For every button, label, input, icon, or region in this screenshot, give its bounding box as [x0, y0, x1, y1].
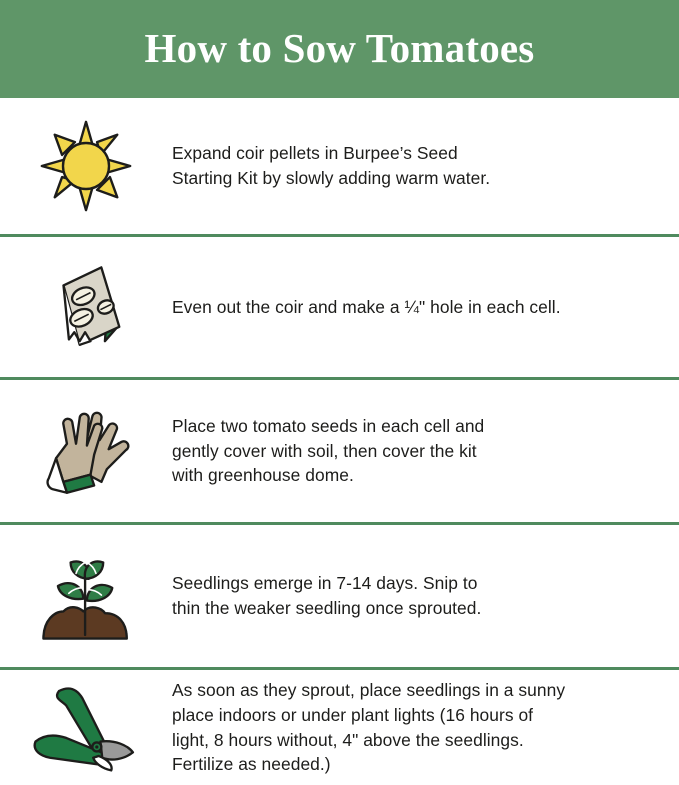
step-2-line-1: Even out the coir and make a ¼" hole in … [172, 295, 649, 320]
step-1-line-2: Starting Kit by slowly adding warm water… [172, 166, 649, 191]
step-3-line-3: with greenhouse dome. [172, 463, 649, 488]
step-4-line-2: thin the weaker seedling once sprouted. [172, 596, 649, 621]
header-banner: How to Sow Tomatoes [0, 0, 679, 98]
pruning-shears-icon [30, 682, 142, 774]
step-row-4: Seedlings emerge in 7-14 days. Snip to t… [0, 525, 679, 667]
seedling-icon [36, 548, 136, 644]
step-5-line-4: Fertilize as needed.) [172, 752, 649, 777]
step-5-text: As soon as they sprout, place seedlings … [172, 678, 679, 777]
garden-gloves-icon [36, 402, 136, 500]
seed-packet-icon [36, 262, 136, 352]
step-3-icon-cell [0, 402, 172, 500]
sun-icon [40, 120, 132, 212]
step-5-line-1: As soon as they sprout, place seedlings … [172, 678, 649, 703]
step-5-line-3: light, 8 hours without, 4" above the see… [172, 728, 649, 753]
page-title: How to Sow Tomatoes [145, 28, 535, 71]
step-row-3: Place two tomato seeds in each cell and … [0, 380, 679, 522]
step-2-icon-cell [0, 262, 172, 352]
step-row-5: As soon as they sprout, place seedlings … [0, 670, 679, 785]
step-1-icon-cell [0, 120, 172, 212]
step-4-icon-cell [0, 548, 172, 644]
step-4-text: Seedlings emerge in 7-14 days. Snip to t… [172, 571, 679, 620]
step-2-text: Even out the coir and make a ¼" hole in … [172, 295, 679, 320]
step-1-line-1: Expand coir pellets in Burpee’s Seed [172, 141, 649, 166]
step-row-1: Expand coir pellets in Burpee’s Seed Sta… [0, 98, 679, 234]
how-to-sow-tomatoes-infographic: How to Sow Tomatoes [0, 0, 679, 773]
steps-list: Expand coir pellets in Burpee’s Seed Sta… [0, 98, 679, 785]
step-5-icon-cell [0, 682, 172, 774]
step-3-text: Place two tomato seeds in each cell and … [172, 414, 679, 488]
step-4-line-1: Seedlings emerge in 7-14 days. Snip to [172, 571, 649, 596]
step-row-2: Even out the coir and make a ¼" hole in … [0, 237, 679, 377]
step-3-line-1: Place two tomato seeds in each cell and [172, 414, 649, 439]
step-3-line-2: gently cover with soil, then cover the k… [172, 439, 649, 464]
step-1-text: Expand coir pellets in Burpee’s Seed Sta… [172, 141, 679, 190]
step-5-line-2: place indoors or under plant lights (16 … [172, 703, 649, 728]
